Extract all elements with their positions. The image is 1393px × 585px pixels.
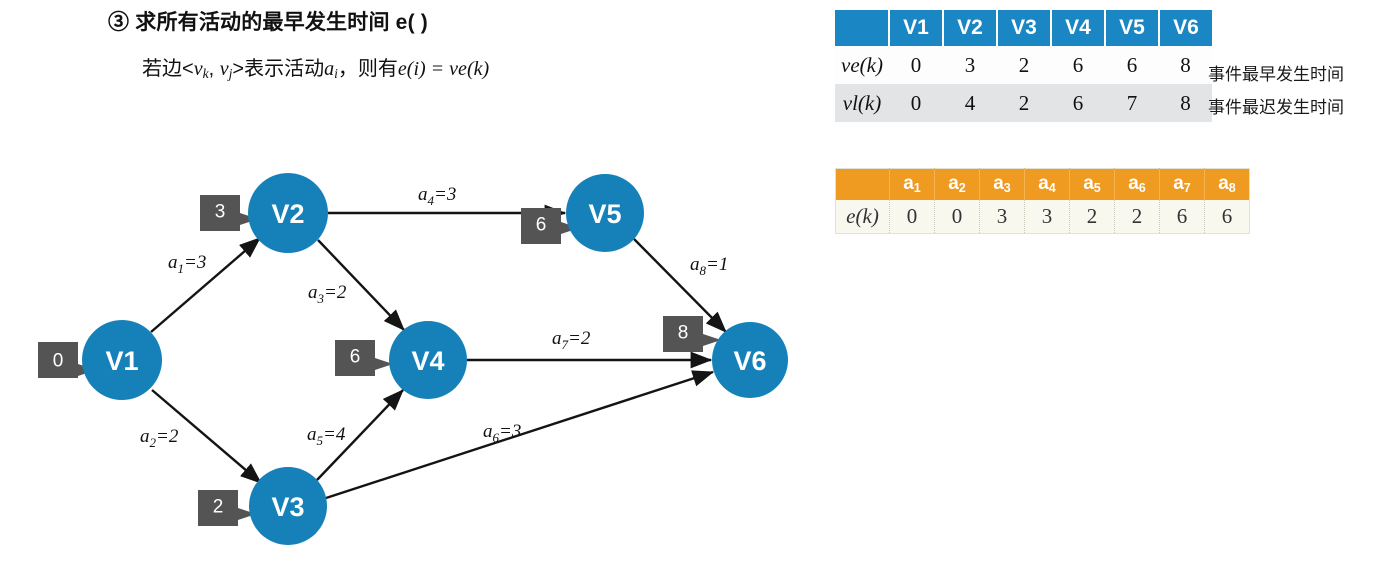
heading-block: ③ 求所有活动的最早发生时间 e( ) 若边<vk, vj>表示活动ai，则有e… [108, 6, 768, 82]
formula-e: e [398, 58, 407, 80]
formula-mid: >表示活动 [232, 58, 324, 80]
cell-e-a4: 3 [1025, 200, 1070, 234]
subtitle-formula: 若边<vk, vj>表示活动ai，则有e(i) = ve(k) [142, 52, 768, 82]
formula-ve-arg: (k) [467, 58, 489, 80]
callout-v2-value: 3 [215, 202, 226, 223]
column-header-v1: V1 [889, 10, 943, 46]
row-label-e: e(k) [836, 200, 890, 234]
node-v2-label: V2 [271, 199, 304, 229]
formula-then: ，则有 [338, 58, 398, 80]
edge-label-a1: a1=3 [168, 252, 206, 276]
node-v1[interactable]: V1 [82, 320, 162, 400]
callout-v6-value: 8 [678, 323, 689, 344]
table-row: e(k) 0 0 3 3 2 2 6 6 [836, 200, 1250, 234]
activity-time-table: a1 a2 a3 a4 a5 a6 a7 a8 e(k) 0 0 3 3 2 2… [835, 168, 1250, 234]
edge-label-a6: a6=3 [483, 421, 521, 445]
cell-e-a8: 6 [1205, 200, 1250, 234]
edge-label-a8: a8=1 [690, 254, 728, 278]
cell-ve-v5: 6 [1105, 46, 1159, 84]
note-latest-event-time: 事件最迟发生时间 [1208, 93, 1344, 118]
header-corner [836, 169, 890, 201]
row-label-vl: vl(k) [835, 84, 889, 122]
cell-ve-v6: 8 [1159, 46, 1212, 84]
formula-comma: , [209, 58, 220, 80]
formula-equals: = [426, 58, 450, 80]
column-header-a1: a1 [890, 169, 935, 201]
cell-vl-v2: 4 [943, 84, 997, 122]
step-number: ③ [108, 11, 129, 34]
aoe-graph: a1=3 a2=2 a3=2 a4=3 a5=4 a6=3 a7=2 a8=1 … [0, 150, 830, 580]
edge-label-a4: a4=3 [418, 184, 456, 208]
node-v5-label: V5 [588, 199, 621, 229]
page-title-text: 求所有活动的最早发生时间 e( ) [135, 11, 428, 34]
callout-v3-value: 2 [213, 497, 224, 518]
formula-vj: v [220, 58, 229, 80]
callout-v6: 8 [663, 316, 721, 352]
column-header-a5: a5 [1070, 169, 1115, 201]
node-v6[interactable]: V6 [712, 322, 788, 398]
column-header-a4: a4 [1025, 169, 1070, 201]
row-label-ve: ve(k) [835, 46, 889, 84]
callout-v4: 6 [335, 340, 393, 376]
node-v3-label: V3 [271, 492, 304, 522]
formula-ve: ve [449, 58, 467, 80]
event-time-table: V1 V2 V3 V4 V5 V6 ve(k) 0 3 2 6 6 8 vl(k… [835, 10, 1212, 122]
column-header-v3: V3 [997, 10, 1051, 46]
cell-ve-v4: 6 [1051, 46, 1105, 84]
column-header-v2: V2 [943, 10, 997, 46]
table-header-row: a1 a2 a3 a4 a5 a6 a7 a8 [836, 169, 1250, 201]
cell-vl-v1: 0 [889, 84, 943, 122]
cell-e-a5: 2 [1070, 200, 1115, 234]
formula-prefix: 若边< [142, 58, 194, 80]
cell-ve-v3: 2 [997, 46, 1051, 84]
table-header-row: V1 V2 V3 V4 V5 V6 [835, 10, 1212, 46]
header-corner [835, 10, 889, 46]
edge-label-a3: a3=2 [308, 282, 347, 306]
column-header-a6: a6 [1115, 169, 1160, 201]
callout-v1-value: 0 [53, 351, 64, 372]
cell-vl-v6: 8 [1159, 84, 1212, 122]
cell-e-a7: 6 [1160, 200, 1205, 234]
cell-vl-v5: 7 [1105, 84, 1159, 122]
formula-vk: v [194, 58, 203, 80]
page-title: ③ 求所有活动的最早发生时间 e( ) [108, 6, 768, 36]
edge-label-a5: a5=4 [307, 424, 346, 448]
column-header-a7: a7 [1160, 169, 1205, 201]
node-v2[interactable]: V2 [248, 173, 328, 253]
cell-e-a1: 0 [890, 200, 935, 234]
cell-vl-v3: 2 [997, 84, 1051, 122]
callout-v5-value: 6 [536, 215, 547, 236]
node-v1-label: V1 [105, 346, 138, 376]
node-v3[interactable]: V3 [249, 467, 327, 545]
edge-label-a7: a7=2 [552, 328, 591, 352]
node-v4[interactable]: V4 [389, 321, 467, 399]
node-v6-label: V6 [733, 346, 766, 376]
cell-e-a6: 2 [1115, 200, 1160, 234]
formula-a: a [324, 58, 334, 80]
column-header-v6: V6 [1159, 10, 1212, 46]
callout-v3: 2 [198, 490, 256, 526]
column-header-a3: a3 [980, 169, 1025, 201]
cell-vl-v4: 6 [1051, 84, 1105, 122]
edge-label-a2: a2=2 [140, 426, 179, 450]
column-header-a2: a2 [935, 169, 980, 201]
node-v5[interactable]: V5 [566, 174, 644, 252]
callout-v4-value: 6 [350, 347, 361, 368]
cell-e-a2: 0 [935, 200, 980, 234]
column-header-v4: V4 [1051, 10, 1105, 46]
note-earliest-event-time: 事件最早发生时间 [1208, 60, 1344, 85]
column-header-v5: V5 [1105, 10, 1159, 46]
node-v4-label: V4 [411, 346, 444, 376]
cell-ve-v1: 0 [889, 46, 943, 84]
table-row: ve(k) 0 3 2 6 6 8 [835, 46, 1212, 84]
table-row: vl(k) 0 4 2 6 7 8 [835, 84, 1212, 122]
column-header-a8: a8 [1205, 169, 1250, 201]
cell-e-a3: 3 [980, 200, 1025, 234]
formula-e-arg: (i) [407, 58, 426, 80]
cell-ve-v2: 3 [943, 46, 997, 84]
